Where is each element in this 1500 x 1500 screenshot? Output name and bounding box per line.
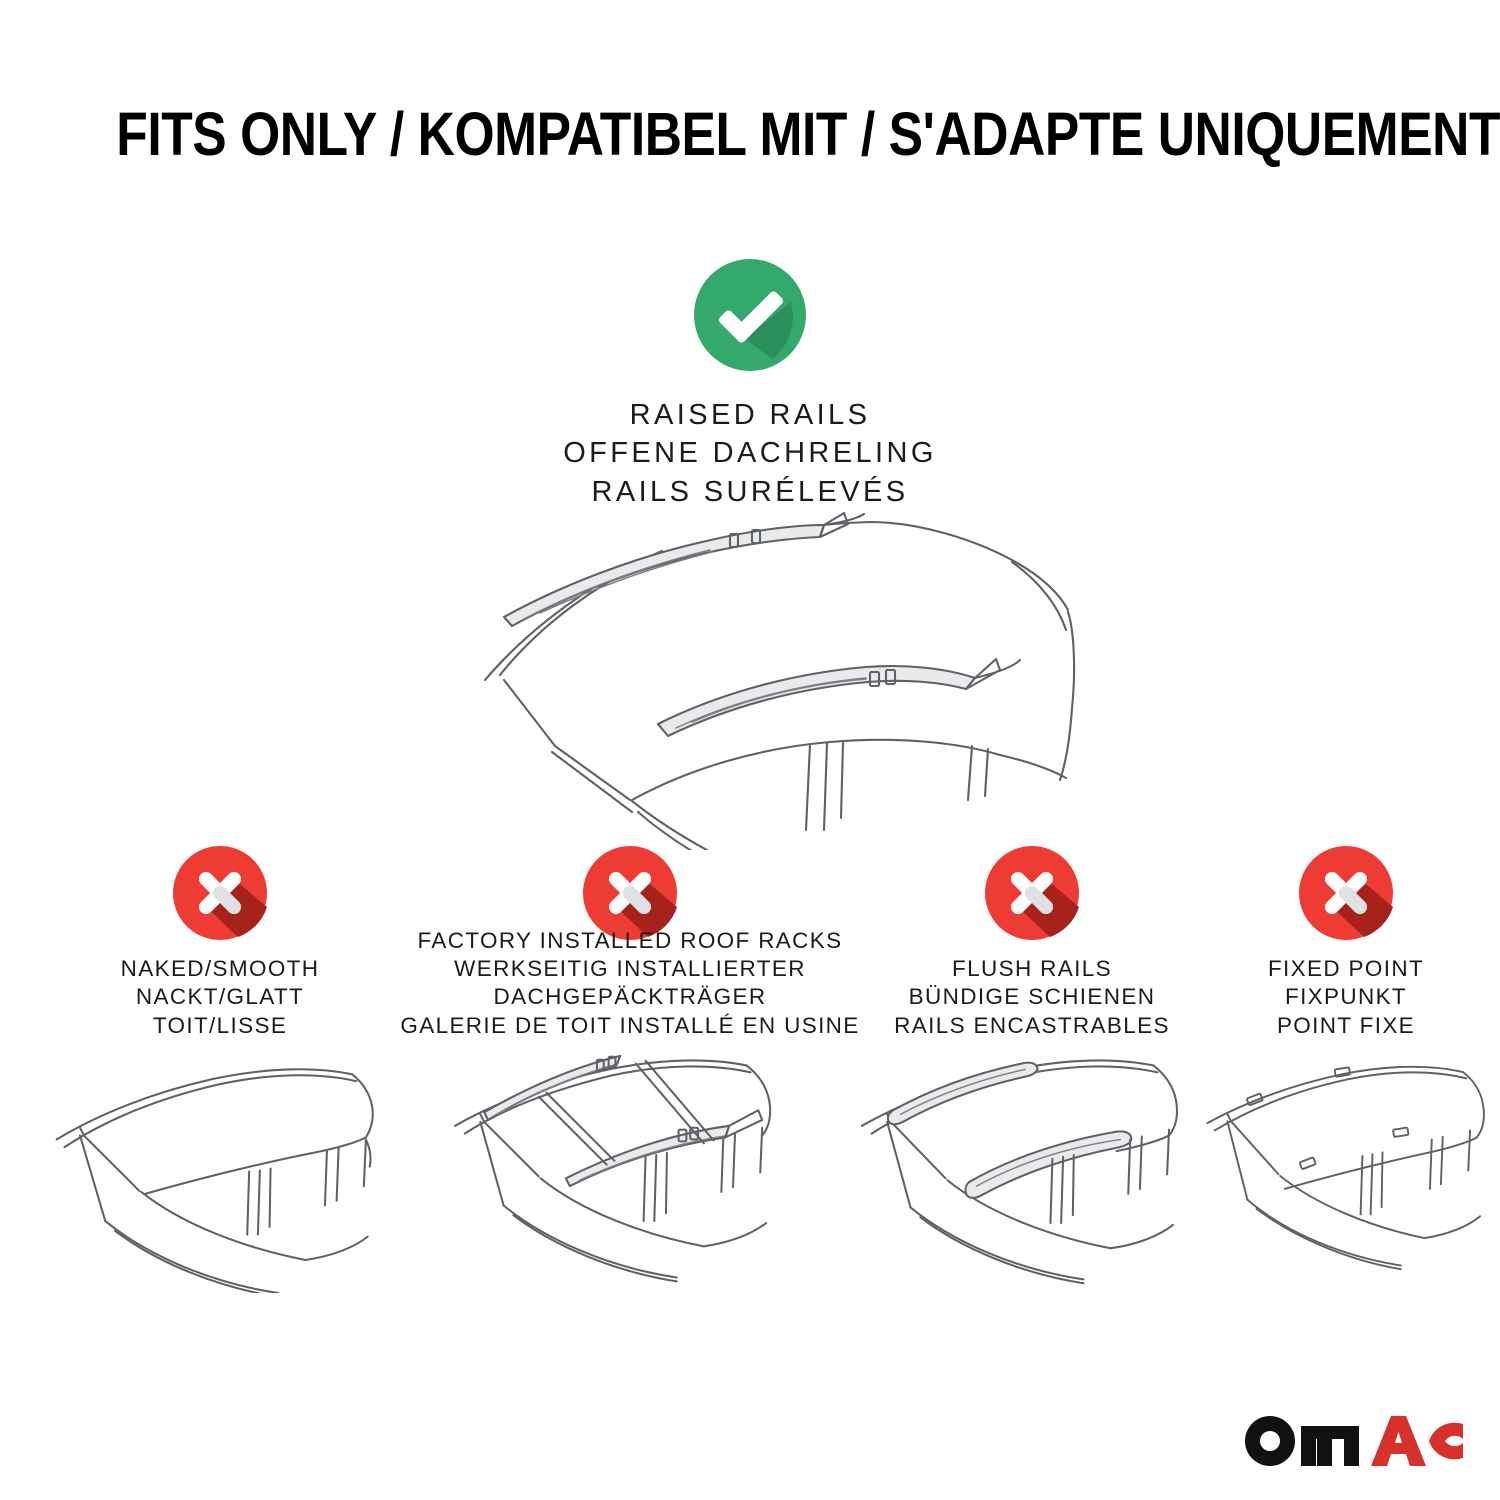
x-icon-wrap-2 bbox=[846, 845, 1218, 941]
incompatible-column-flush-rails: FLUSH RAILS BÜNDIGE SCHIENEN RAILS ENCAS… bbox=[846, 845, 1218, 1315]
incompatible-column-fixed-point: FIXED POINT FIXPUNKT POINT FIXE bbox=[1200, 845, 1492, 1315]
logo-letter-c bbox=[1429, 1423, 1463, 1460]
incompatible-label-3-line-2: FIXPUNKT bbox=[1285, 983, 1407, 1011]
logo-letter-a bbox=[1371, 1416, 1426, 1466]
incompatible-label-1-line-3: DACHGEPÄCKTRÄGER bbox=[494, 983, 767, 1011]
flush-rails-illustration bbox=[846, 1050, 1218, 1293]
incompatible-label-0-line-2: NACKT/GLATT bbox=[136, 983, 304, 1011]
incompatible-label-2-line-3: RAILS ENCASTRABLES bbox=[894, 1012, 1170, 1040]
incompatible-label-3: FIXED POINT FIXPUNKT POINT FIXE bbox=[1200, 945, 1492, 1040]
incompatible-label-2-line-2: BÜNDIGE SCHIENEN bbox=[909, 983, 1156, 1011]
fixed-point-illustration bbox=[1200, 1050, 1492, 1293]
incompatible-label-0: NAKED/SMOOTH NACKT/GLATT TOIT/LISSE bbox=[40, 945, 400, 1040]
incompatible-label-0-line-3: TOIT/LISSE bbox=[153, 1012, 287, 1040]
compatible-label-line-1: RAISED RAILS bbox=[0, 396, 1500, 434]
x-icon-wrap-0 bbox=[40, 845, 400, 941]
compatible-icon-wrap bbox=[0, 258, 1500, 372]
omac-logo bbox=[1243, 1414, 1463, 1468]
incompatible-label-3-line-1: FIXED POINT bbox=[1268, 955, 1424, 983]
raised-rails-illustration bbox=[400, 500, 1100, 850]
red-x-circle-icon bbox=[984, 845, 1080, 941]
incompatible-label-1: FACTORY INSTALLED ROOF RACKS WERKSEITIG … bbox=[412, 945, 848, 1040]
naked-smooth-roof-illustration bbox=[40, 1050, 400, 1293]
compatible-label-line-2: OFFENE DACHRELING bbox=[0, 434, 1500, 472]
incompatible-label-1-line-4: GALERIE DE TOIT INSTALLÉ EN USINE bbox=[400, 1012, 859, 1040]
factory-roof-racks-illustration bbox=[412, 1050, 848, 1293]
page-title: FITS ONLY / KOMPATIBEL MIT / S'ADAPTE UN… bbox=[116, 104, 1384, 165]
compatible-section: RAISED RAILS OFFENE DACHRELING RAILS SUR… bbox=[0, 258, 1500, 511]
x-icon-wrap-3 bbox=[1200, 845, 1492, 941]
compatible-label: RAISED RAILS OFFENE DACHRELING RAILS SUR… bbox=[0, 396, 1500, 511]
incompatible-column-naked-smooth: NAKED/SMOOTH NACKT/GLATT TOIT/LISSE bbox=[40, 845, 400, 1315]
fitment-guide-page: FITS ONLY / KOMPATIBEL MIT / S'ADAPTE UN… bbox=[0, 0, 1500, 1500]
incompatible-label-1-line-1: FACTORY INSTALLED ROOF RACKS bbox=[418, 927, 843, 955]
incompatible-label-3-line-3: POINT FIXE bbox=[1277, 1012, 1415, 1040]
incompatible-label-0-line-1: NAKED/SMOOTH bbox=[121, 955, 320, 983]
green-check-circle-icon bbox=[693, 258, 807, 372]
incompatible-sections: NAKED/SMOOTH NACKT/GLATT TOIT/LISSE bbox=[0, 845, 1500, 1315]
incompatible-label-2-line-1: FLUSH RAILS bbox=[952, 955, 1112, 983]
incompatible-label-2: FLUSH RAILS BÜNDIGE SCHIENEN RAILS ENCAS… bbox=[846, 945, 1218, 1040]
red-x-circle-icon bbox=[172, 845, 268, 941]
logo-letter-o bbox=[1245, 1416, 1295, 1466]
incompatible-label-1-line-2: WERKSEITIG INSTALLIERTER bbox=[454, 955, 806, 983]
incompatible-column-factory-racks: FACTORY INSTALLED ROOF RACKS WERKSEITIG … bbox=[412, 845, 848, 1315]
red-x-circle-icon bbox=[1298, 845, 1394, 941]
